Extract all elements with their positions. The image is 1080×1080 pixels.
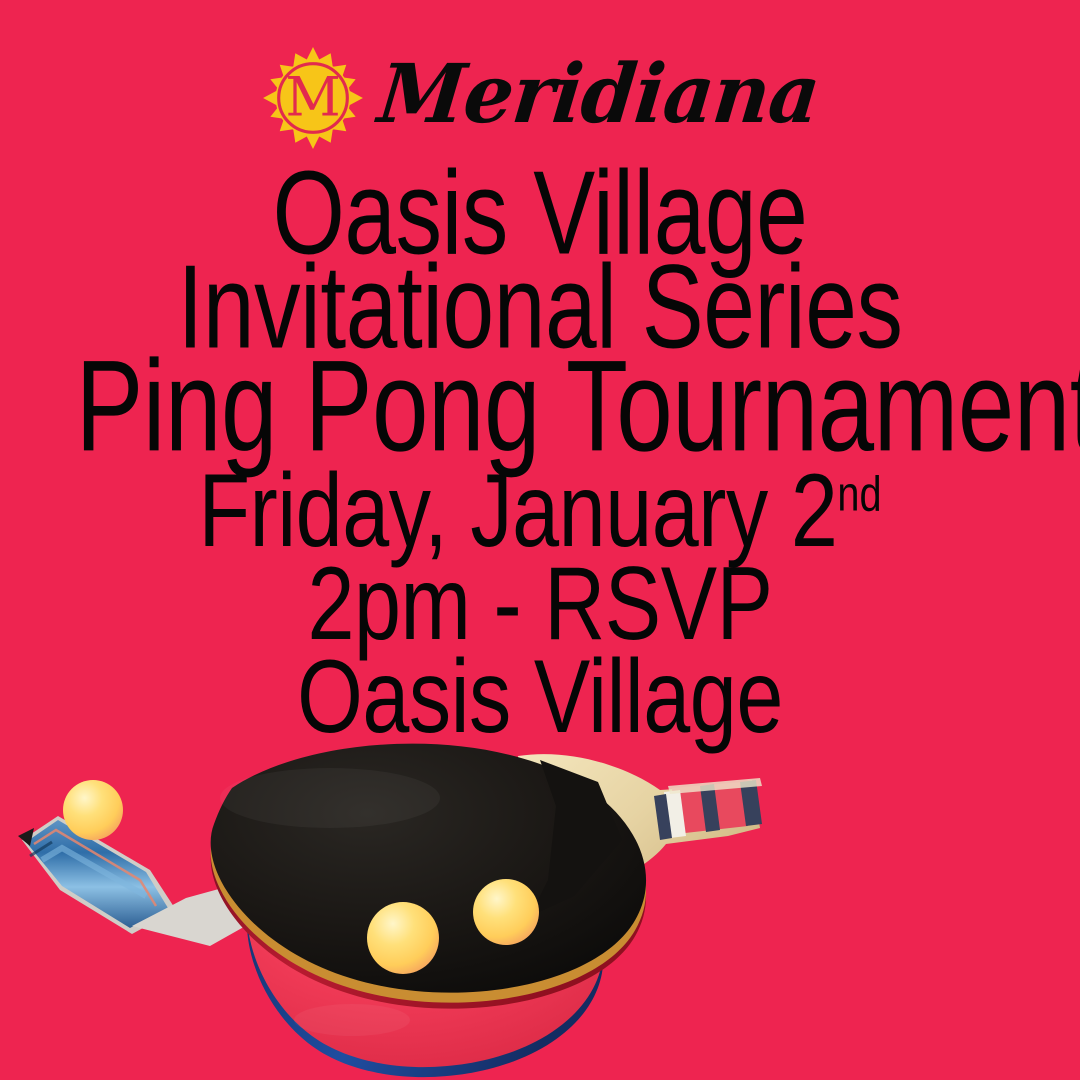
ping-pong-photo-svg — [0, 720, 1080, 1080]
ping-pong-ball-right — [473, 879, 539, 945]
black-rubber-paddle — [211, 744, 762, 1009]
event-date-ordinal: nd — [837, 466, 881, 521]
ping-pong-ball-center — [367, 902, 439, 974]
brand-header: M Meridiana — [0, 44, 1080, 152]
headline-line-3: Ping Pong Tournament — [76, 347, 1005, 468]
sun-logo-icon: M — [261, 46, 365, 150]
detail-block: Friday, January 2nd 2pm - RSVP Oasis Vil… — [0, 462, 1080, 740]
poster-canvas: M Meridiana Oasis Village Invitational S… — [0, 0, 1080, 1080]
svg-text:M: M — [285, 66, 340, 129]
ping-pong-ball-left — [63, 780, 123, 840]
headline-block: Oasis Village Invitational Series Ping P… — [0, 158, 1080, 457]
brand-name: Meridiana — [375, 54, 823, 135]
ping-pong-photo — [0, 720, 1080, 1080]
